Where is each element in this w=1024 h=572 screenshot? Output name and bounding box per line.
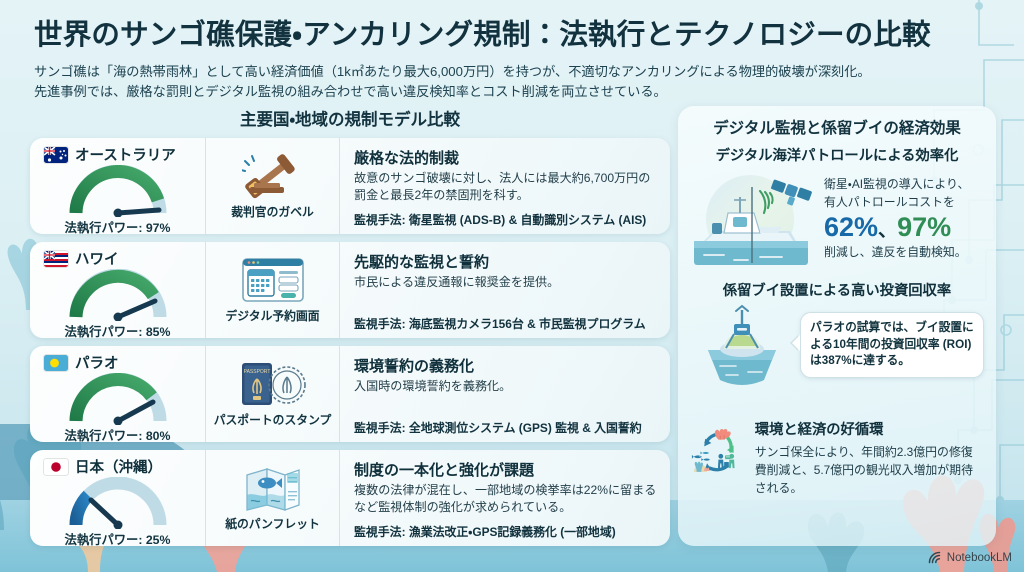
detail-body: 入国時の環境誓約を義務化。 xyxy=(354,378,658,395)
cycle-body: サンゴ保全により、年間約2.3億円の修復費削減と、5.7億円の観光収入増加が期待… xyxy=(755,444,984,498)
table-row[interactable]: 日本（沖縄） 法執行パワー: 25% xyxy=(30,450,670,546)
flag-australia-icon xyxy=(44,147,68,163)
patrol-number-1: 62% xyxy=(824,212,878,242)
enforcement-gauge xyxy=(62,165,174,217)
gauge-cell: オーストラリア 法執行パワー: 97% xyxy=(30,138,205,234)
enforcement-gauge xyxy=(62,373,174,425)
gauge-value-label: 法執行パワー: 85% xyxy=(65,322,171,338)
patrol-text-line2: 有人パトロールコストを xyxy=(824,194,969,212)
roi-block: パラオの試算では、ブイ設置による10年間の投資回収率 (ROI) は387%に達… xyxy=(690,302,984,388)
country-name: パラオ xyxy=(75,352,119,373)
evidence-icon-cell: PASSPORT パスポートのスタンプ xyxy=(205,346,340,442)
country-name: 日本（沖縄） xyxy=(75,456,162,477)
flag-hawaii-icon xyxy=(44,251,68,267)
detail-body: 故意のサンゴ破壊に対し、法人には最大約6,700万円の罰金と最長2年の禁固刑を科… xyxy=(354,170,658,204)
watermark-label: NotebookLM xyxy=(947,552,1012,564)
flag-palau-icon xyxy=(44,355,68,371)
cycle-block: 環境と経済の好循環 サンゴ保全により、年間約2.3億円の修復費削減と、5.7億円… xyxy=(690,398,984,506)
detail-title: 制度の一本化と強化が課題 xyxy=(354,459,658,480)
digital-booking-screen-icon xyxy=(241,256,305,304)
patrol-boat-satellite-icon xyxy=(690,167,818,271)
country-name: オーストラリア xyxy=(75,144,176,165)
detail-body: 市民による違反通報に報奨金を提供。 xyxy=(354,274,658,291)
patrol-big-numbers: 62%、97% xyxy=(824,212,969,243)
paper-pamphlet-icon xyxy=(243,464,303,512)
regulation-comparison-panel: 主要国・地域の規制モデル比較 xyxy=(30,106,670,554)
page-title: 世界のサンゴ礁保護・アンカリング規制：法執行とテクノロジーの比較 xyxy=(34,12,994,53)
gauge-cell: パラオ 法執行パワー: 80% xyxy=(30,346,205,442)
patrol-text-line1: 衛星・AI監視の導入により、 xyxy=(824,176,969,194)
detail-body: 複数の法律が混在し、一部地域の検挙率は22%に留まるなど監視体制の強化が求められ… xyxy=(354,482,658,516)
detail-cell: 環境誓約の義務化 入国時の環境誓約を義務化。 監視手法: 全地球測位システム (… xyxy=(340,346,670,442)
notebooklm-icon xyxy=(928,551,942,564)
detail-cell: 先駆的な監視と誓約 市民による違反通報に報奨金を提供。 監視手法: 海底監視カメ… xyxy=(340,242,670,338)
virtuous-cycle-icon xyxy=(690,398,749,506)
evidence-icon-caption: デジタル予約画面 xyxy=(225,307,319,324)
table-row[interactable]: オーストラリア 法執行パワー: 97% xyxy=(30,138,670,234)
detail-cell: 制度の一本化と強化が課題 複数の法律が混在し、一部地域の検挙率は22%に留まるな… xyxy=(340,450,670,546)
gavel-icon xyxy=(242,152,304,200)
gauge-value-label: 法執行パワー: 80% xyxy=(65,426,171,442)
economic-impact-panel: デジタル監視と係留ブイの経済効果 デジタル海洋パトロールによる効率化 xyxy=(678,106,996,546)
evidence-icon-caption: パスポートのスタンプ xyxy=(214,411,332,428)
evidence-icon-cell: デジタル予約画面 xyxy=(205,242,340,338)
enforcement-gauge xyxy=(62,269,174,321)
flag-japan-icon xyxy=(44,459,68,475)
gauge-value-label: 法執行パワー: 25% xyxy=(65,530,171,546)
detail-method: 監視手法: 漁業法改正・GPS記録義務化 (一部地域) xyxy=(354,520,658,540)
page-subtitle-line1: サンゴ礁は「海の熱帯雨林」として高い経済価値（1k㎡あたり最大6,000万円）を… xyxy=(34,62,994,82)
patrol-number-separator: 、 xyxy=(878,220,897,241)
gauge-cell: 日本（沖縄） 法執行パワー: 25% xyxy=(30,450,205,546)
roi-callout: パラオの試算では、ブイ設置による10年間の投資回収率 (ROI) は387%に達… xyxy=(800,312,984,379)
mooring-buoy-icon xyxy=(690,302,794,388)
evidence-icon-caption: 紙のパンフレット xyxy=(225,515,320,532)
evidence-icon-cell: 裁判官のガベル xyxy=(205,138,340,234)
roi-subtitle: 係留ブイ設置による高い投資回収率 xyxy=(690,279,984,300)
page-subtitle-line2: 先進事例では、厳格な罰則とデジタル監視の組み合わせで高い違反検知率とコスト削減を… xyxy=(34,82,994,102)
country-name: ハワイ xyxy=(75,248,119,269)
patrol-subtitle: デジタル海洋パトロールによる効率化 xyxy=(690,144,984,165)
country-header: パラオ xyxy=(44,352,119,373)
gauge-cell: ハワイ 法執行パワー: 85% xyxy=(30,242,205,338)
patrol-text-line3: 削減し、違反を自動検知。 xyxy=(824,244,969,262)
country-header: ハワイ xyxy=(44,248,119,269)
country-header: 日本（沖縄） xyxy=(44,456,162,477)
patrol-block: 衛星・AI監視の導入により、 有人パトロールコストを 62%、97% 削減し、違… xyxy=(690,167,984,271)
detail-title: 先駆的な監視と誓約 xyxy=(354,251,658,272)
detail-method: 監視手法: 全地球測位システム (GPS) 監視 & 入国誓約 xyxy=(354,416,658,436)
detail-method: 監視手法: 衛星監視 (ADS-B) & 自動識別システム (AIS) xyxy=(354,208,658,228)
right-panel-title: デジタル監視と係留ブイの経済効果 xyxy=(690,116,984,138)
left-panel-title: 主要国・地域の規制モデル比較 xyxy=(30,106,670,130)
gauge-value-label: 法執行パワー: 97% xyxy=(65,218,171,234)
cycle-title: 環境と経済の好循環 xyxy=(755,420,984,441)
watermark: NotebookLM xyxy=(928,551,1012,564)
country-header: オーストラリア xyxy=(44,144,176,165)
table-row[interactable]: ハワイ 法執行パワー: 85% xyxy=(30,242,670,338)
evidence-icon-caption: 裁判官のガベル xyxy=(231,203,314,220)
cycle-text-wrap: 環境と経済の好循環 サンゴ保全により、年間約2.3億円の修復費削減と、5.7億円… xyxy=(755,398,984,498)
evidence-icon-cell: 紙のパンフレット xyxy=(205,450,340,546)
table-row[interactable]: パラオ 法執行パワー: 80% PASSPORT xyxy=(30,346,670,442)
detail-cell: 厳格な法的制裁 故意のサンゴ破壊に対し、法人には最大約6,700万円の罰金と最長… xyxy=(340,138,670,234)
detail-method: 監視手法: 海底監視カメラ156台 & 市民監視プログラム xyxy=(354,312,658,332)
page-header: 世界のサンゴ礁保護・アンカリング規制：法執行とテクノロジーの比較 サンゴ礁は「海… xyxy=(34,12,994,103)
patrol-number-2: 97% xyxy=(897,212,951,242)
detail-title: 厳格な法的制裁 xyxy=(354,147,658,168)
patrol-text: 衛星・AI監視の導入により、 有人パトロールコストを 62%、97% 削減し、違… xyxy=(824,176,969,263)
passport-stamp-icon: PASSPORT xyxy=(238,360,308,408)
page-subtitle: サンゴ礁は「海の熱帯雨林」として高い経済価値（1k㎡あたり最大6,000万円）を… xyxy=(34,62,994,103)
svg-text:PASSPORT: PASSPORT xyxy=(243,369,270,375)
detail-title: 環境誓約の義務化 xyxy=(354,355,658,376)
enforcement-gauge xyxy=(62,477,174,529)
